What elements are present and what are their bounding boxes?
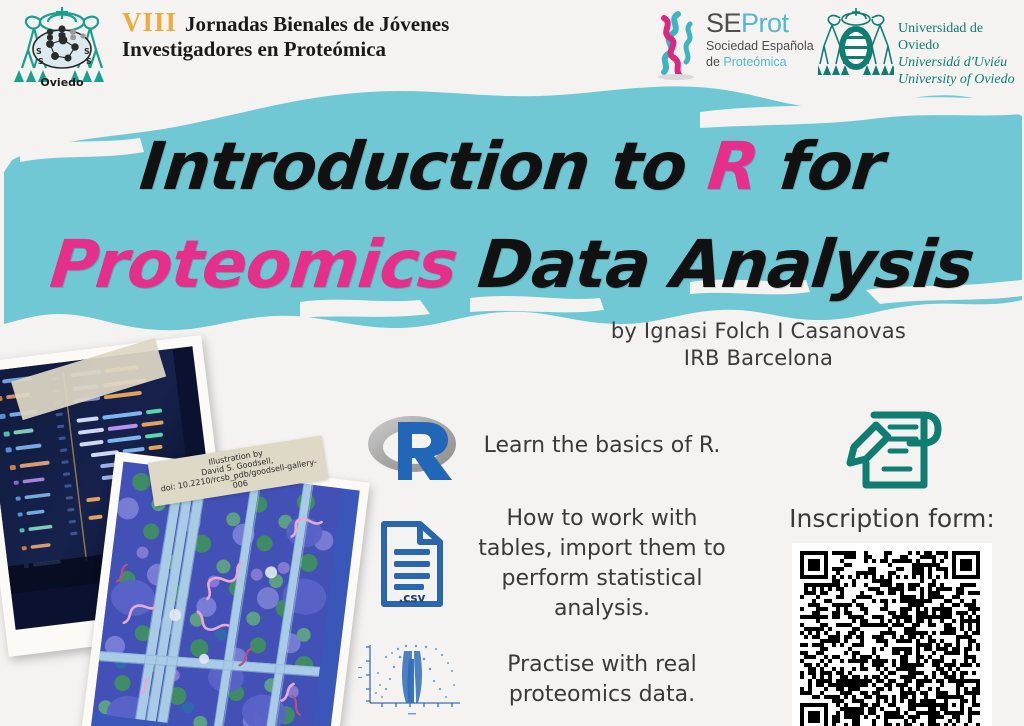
feature-list: Learn the basics of R. .csv How to work … <box>352 398 732 726</box>
seprot-subtitle-2-accent: Proteómica <box>723 55 786 69</box>
r-logo-icon <box>352 408 472 484</box>
seprot-title-prot: Prot <box>741 8 789 38</box>
jornadas-line-2: Investigadores en Proteómica <box>122 37 449 62</box>
seprot-logo: SEProt Sociedad Española de Proteómica <box>648 8 818 90</box>
feature-row-tables-import: .csv How to work with tables, import the… <box>352 500 732 628</box>
jbjip-mark-label: Oviedo <box>40 76 84 89</box>
signing-form-icon <box>760 404 1024 502</box>
jbjip-crest-icon: SS SS Oviedo <box>8 4 116 92</box>
feature-row-practise-data: Practise with real proteomics data. <box>352 634 732 726</box>
inscription-block: Inscription form: <box>760 404 1024 726</box>
title-line-1-part-2: for <box>754 128 888 205</box>
feature-text-learn-basics: Learn the basics of R. <box>472 431 732 461</box>
seprot-logo-text: SEProt Sociedad Española de Proteómica <box>706 8 814 70</box>
csv-file-icon: .csv <box>352 518 472 610</box>
volcano-plot-icon <box>352 637 472 723</box>
jornadas-logo-text: VIIIJornadas Bienales de Jóvenes Investi… <box>122 4 449 62</box>
title-line-2-part-2: Data Analysis <box>452 226 977 303</box>
seprot-ribbon-icon <box>648 10 704 80</box>
poster-root: SS SS Oviedo VIIIJornadas Bienales de Jó… <box>0 0 1024 726</box>
svg-text:S: S <box>36 47 42 56</box>
byline-affiliation: IRB Barcelona <box>611 345 906 372</box>
byline-author: by Ignasi Folch I Casanovas <box>611 318 906 345</box>
university-logo-text: Universidad de Oviedo Universidá d'Uviéu… <box>898 20 1018 88</box>
feature-text-tables-import: How to work with tables, import them to … <box>472 504 732 624</box>
university-logo: Universidad de Oviedo Universidá d'Uviéu… <box>818 6 1018 88</box>
feature-row-learn-basics: Learn the basics of R. <box>352 398 732 494</box>
csv-icon-label: .csv <box>399 591 426 605</box>
goodsell-cell-illustration <box>93 462 342 726</box>
svg-text:S: S <box>38 57 44 66</box>
poster-header: SS SS Oviedo VIIIJornadas Bienales de Jó… <box>0 0 1024 96</box>
svg-text:S: S <box>86 57 92 66</box>
title-line-1-part-1: Introduction to <box>136 128 712 205</box>
svg-text:S: S <box>84 47 90 56</box>
university-line-1: Universidad de Oviedo <box>898 20 1018 54</box>
seprot-subtitle-2-prefix: de <box>706 55 723 69</box>
title-line-1-accent: R <box>704 128 762 205</box>
university-line-3: University of Oviedo <box>898 71 1018 88</box>
seprot-title-se: SE <box>706 8 741 38</box>
university-line-2: Universidá d'Uviéu <box>898 54 1018 71</box>
seprot-subtitle-1: Sociedad Española <box>706 39 814 54</box>
jornadas-edition: VIII <box>122 7 177 37</box>
university-of-oviedo-crest-icon <box>818 6 894 84</box>
photo-collage <box>0 320 348 726</box>
title-line-2: Proteomics Data Analysis <box>0 216 1024 314</box>
byline: by Ignasi Folch I Casanovas IRB Barcelon… <box>611 318 906 372</box>
feature-text-practise-data: Practise with real proteomics data. <box>472 650 732 710</box>
jornadas-logo: SS SS Oviedo VIIIJornadas Bienales de Jó… <box>8 4 418 94</box>
qr-canvas[interactable] <box>800 551 984 726</box>
title-line-1: Introduction to R for <box>0 118 1024 216</box>
jornadas-line-1: Jornadas Bienales de Jóvenes <box>185 12 449 36</box>
inscription-label: Inscription form: <box>760 504 1024 533</box>
inscription-form-qr-code[interactable] <box>792 543 992 726</box>
title-line-2-accent: Proteomics <box>47 226 461 303</box>
poster-title: Introduction to R for Proteomics Data An… <box>0 118 1024 314</box>
